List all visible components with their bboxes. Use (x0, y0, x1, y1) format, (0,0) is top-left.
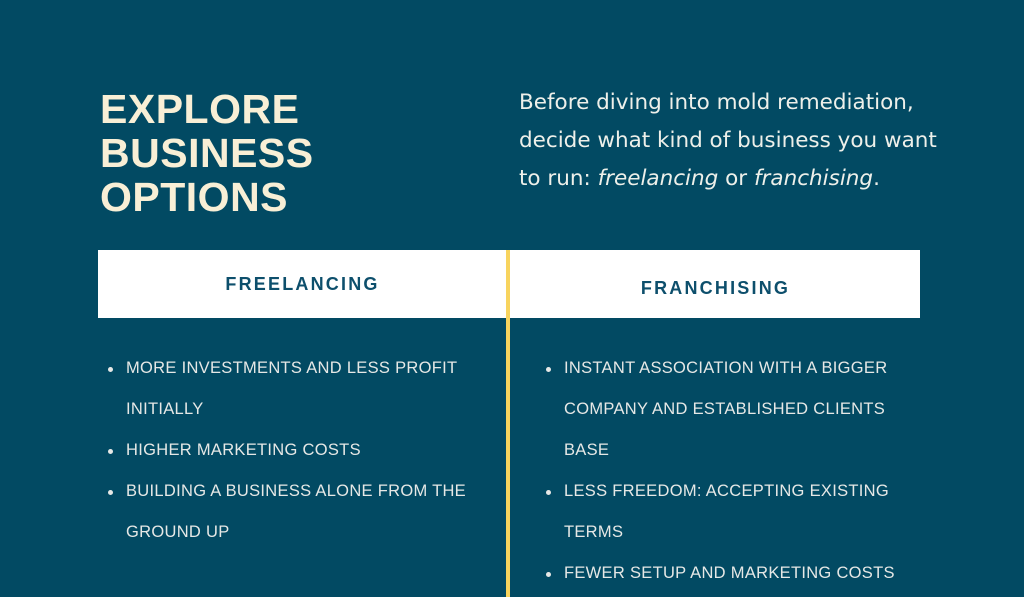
intro-conjunction: or (718, 166, 754, 191)
intro-emphasis-franchising: franchising (754, 166, 873, 191)
bullet-list-freelancing: More investments and less profit initial… (104, 348, 484, 553)
list-item: Instant association with a bigger compan… (542, 348, 932, 471)
list-item: Fewer setup and marketing costs (542, 553, 932, 594)
column-header-franchising: FRANCHISING (511, 250, 920, 322)
page-title-line-2: BUSINESS (100, 131, 490, 175)
column-header-freelancing: FREELANCING (98, 250, 507, 318)
list-item: More investments and less profit initial… (104, 348, 484, 430)
page-title-line-1: EXPLORE (100, 87, 490, 131)
intro-emphasis-freelancing: freelancing (598, 166, 719, 191)
slide-canvas: EXPLORE BUSINESS OPTIONS Before diving i… (0, 0, 1024, 597)
list-item: Less freedom: accepting existing terms (542, 471, 932, 553)
bullet-list-franchising: Instant association with a bigger compan… (542, 348, 932, 594)
list-item: Higher marketing costs (104, 430, 484, 471)
list-item: Building a business alone from the groun… (104, 471, 484, 553)
page-title: EXPLORE BUSINESS OPTIONS (100, 87, 490, 219)
page-title-line-3: OPTIONS (100, 175, 490, 219)
intro-paragraph: Before diving into mold remediation, dec… (519, 84, 949, 198)
intro-text-trail: . (873, 166, 880, 191)
column-divider (506, 250, 510, 597)
